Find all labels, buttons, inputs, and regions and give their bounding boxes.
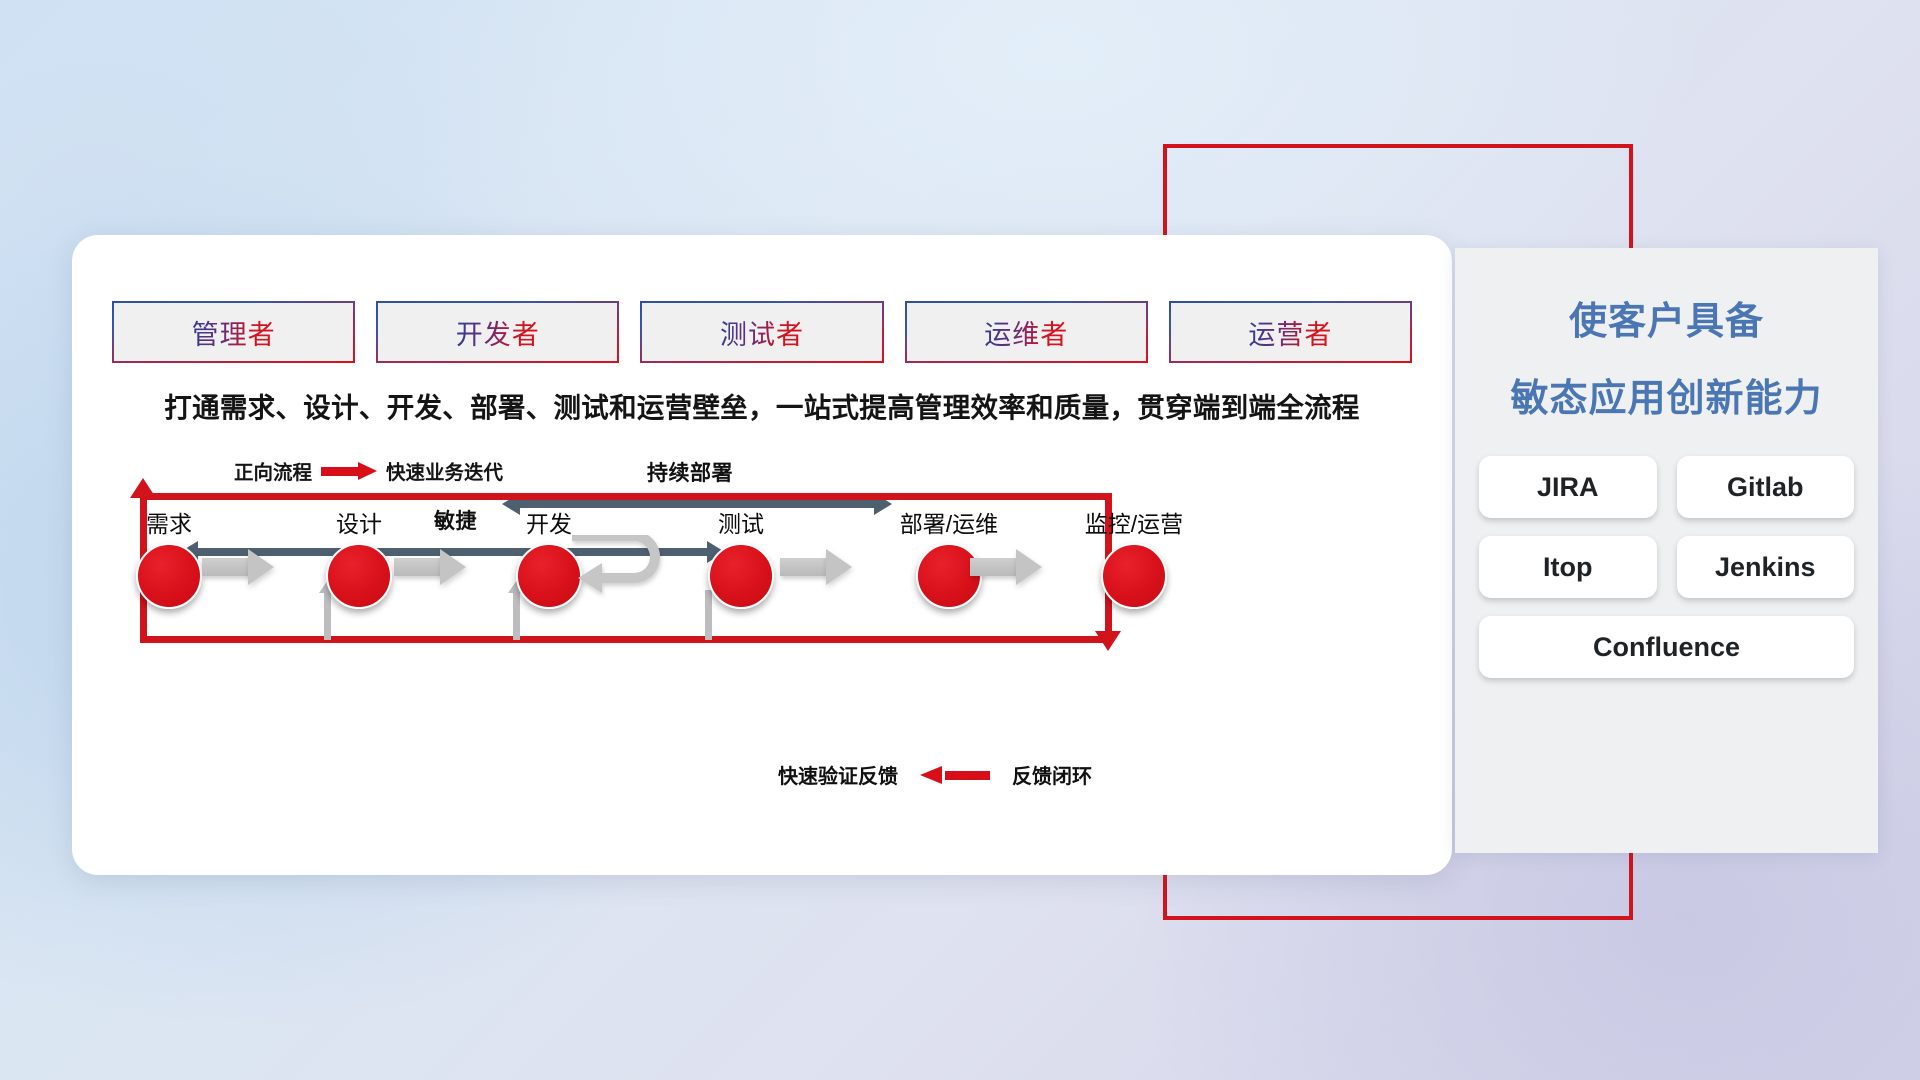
stage-dot	[1101, 543, 1167, 609]
panel-headline-line-2: 敏态应用创新能力	[1455, 367, 1878, 422]
role-label: 运营者	[1248, 313, 1332, 352]
stage-label: 监控/运营	[1049, 505, 1219, 539]
stage-label: 部署/运维	[869, 505, 1029, 539]
role-label: 管理者	[192, 313, 276, 352]
stage-monitor-operation[interactable]: 监控/运营	[1049, 505, 1219, 609]
value-proposition-panel: 使客户具备 敏态应用创新能力 JIRA Gitlab Itop Jenkins …	[1455, 248, 1878, 853]
role-label: 运维者	[984, 313, 1068, 352]
tool-chip-jenkins[interactable]: Jenkins	[1677, 536, 1855, 598]
stage-label: 测试	[676, 505, 806, 539]
tool-chip-gitlab[interactable]: Gitlab	[1677, 456, 1855, 518]
tool-chip-itop[interactable]: Itop	[1479, 536, 1657, 598]
pipeline-loop-bottom	[140, 636, 1112, 643]
pipeline-loop-arrowhead-down-icon	[1095, 631, 1121, 651]
feedback-result-label: 快速验证反馈	[778, 760, 898, 789]
role-box-tester[interactable]: 测试者	[640, 301, 883, 363]
role-box-operator[interactable]: 运营者	[1169, 301, 1412, 363]
role-label: 开发者	[456, 313, 540, 352]
gray-arrow-deploy-to-monitor	[970, 549, 1042, 585]
role-box-developer[interactable]: 开发者	[376, 301, 619, 363]
tool-chip-jira[interactable]: JIRA	[1479, 456, 1657, 518]
panel-headline: 使客户具备 敏态应用创新能力	[1455, 290, 1878, 422]
rework-loop-arrow-icon	[572, 535, 682, 605]
forward-flow-source-label: 正向流程	[234, 456, 312, 485]
role-box-row: 管理者 开发者 测试者 运维者 运营者	[112, 301, 1412, 363]
tool-chip-confluence[interactable]: Confluence	[1479, 616, 1854, 678]
pipeline-stage-row: 需求 设计 开发 测试 部署/运维 监控/运营	[72, 505, 1452, 625]
pipeline-loop-arrowhead-up-icon	[130, 478, 156, 498]
role-box-ops-engineer[interactable]: 运维者	[905, 301, 1148, 363]
continuous-deployment-label: 持续部署	[647, 457, 733, 487]
stage-dot	[136, 543, 202, 609]
red-left-arrow-icon	[920, 766, 990, 784]
tool-chip-grid: JIRA Gitlab Itop Jenkins Confluence	[1479, 456, 1854, 678]
stage-dot	[708, 543, 774, 609]
gray-arrow-design-to-development	[394, 549, 466, 585]
gray-arrow-requirement-to-design	[202, 549, 274, 585]
role-box-manager[interactable]: 管理者	[112, 301, 355, 363]
gray-arrow-testing-to-deploy	[780, 549, 852, 585]
stage-label: 设计	[294, 505, 424, 539]
pipeline-loop-top	[140, 493, 1112, 500]
feedback-loop-caption: 快速验证反馈 反馈闭环	[778, 760, 1092, 789]
slide-canvas: 管理者 开发者 测试者 运维者 运营者 打通需求、设计、开发、部署、测试和运营壁…	[0, 0, 1920, 1080]
role-label: 测试者	[720, 313, 804, 352]
stage-label: 需求	[104, 505, 234, 539]
tagline-text: 打通需求、设计、开发、部署、测试和运营壁垒，一站式提高管理效率和质量，贯穿端到端…	[72, 385, 1452, 425]
red-right-arrow-icon	[321, 462, 377, 480]
forward-flow-target-label: 快速业务迭代	[386, 456, 503, 485]
forward-flow-caption: 正向流程 快速业务迭代	[234, 456, 503, 485]
panel-headline-line-1: 使客户具备	[1455, 290, 1878, 345]
stage-dot	[326, 543, 392, 609]
stage-label: 开发	[484, 505, 614, 539]
feedback-source-label: 反馈闭环	[1012, 760, 1092, 789]
main-content-card: 管理者 开发者 测试者 运维者 运营者 打通需求、设计、开发、部署、测试和运营壁…	[72, 235, 1452, 875]
